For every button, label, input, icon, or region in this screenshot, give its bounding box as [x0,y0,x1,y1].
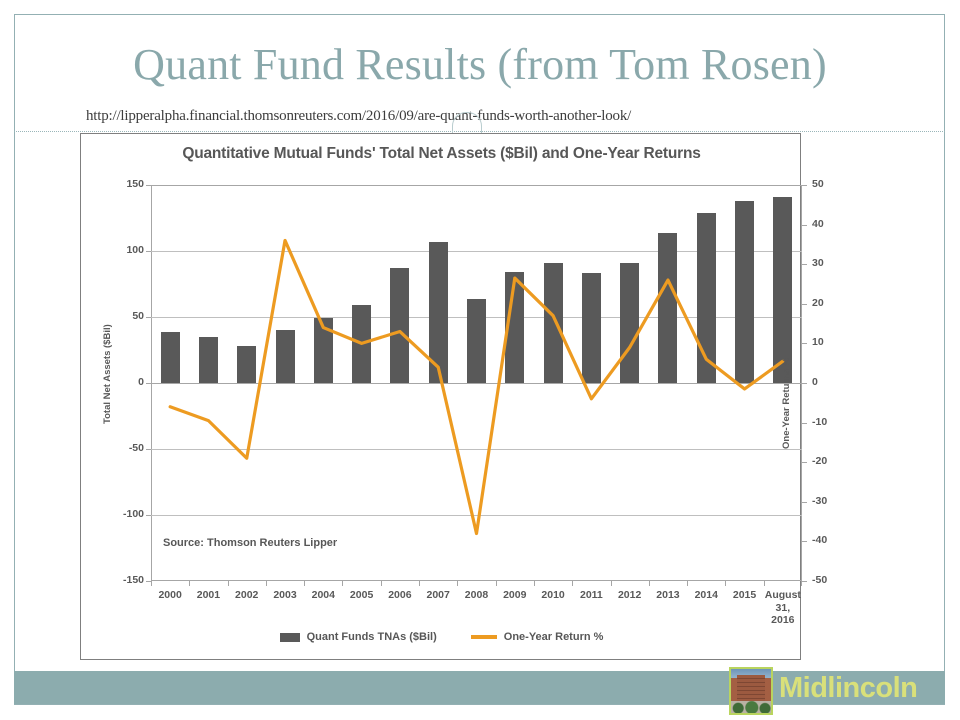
right-axis-tick-mark [802,502,807,503]
x-axis-label-group: 2000 [151,589,189,602]
chart-source-note: Source: Thomson Reuters Lipper [163,537,337,549]
x-axis-tick-mark [151,581,152,586]
building-photo-logo [729,667,773,715]
x-axis-tick-label: 2015 [733,589,756,601]
x-axis-tick-label: 2012 [618,589,641,601]
legend-item-bars: Quant Funds TNAs ($Bil) [280,631,437,643]
x-axis-tick-mark [801,581,802,586]
right-axis-tick-label: 30 [812,257,824,269]
x-axis-tick-mark [342,581,343,586]
x-axis-tick-label: 2014 [695,589,718,601]
x-axis-tick-label: 2004 [312,589,335,601]
x-axis-label-group: 2014 [687,589,725,602]
right-axis-tick-label: 40 [812,218,824,230]
x-axis-tick-label: 2001 [197,589,220,601]
x-axis-tick-mark [725,581,726,586]
x-axis-label-group: 2006 [381,589,419,602]
x-axis-tick-label: 2006 [388,589,411,601]
right-axis-tick-label: 0 [812,376,818,388]
right-axis-tick-mark [802,185,807,186]
left-axis-tick-label: 0 [138,376,144,388]
right-axis-tick-label: -20 [812,455,827,467]
left-axis-tick-label: -100 [123,508,144,520]
x-axis-label-group: 2012 [611,589,649,602]
chart-legend: Quant Funds TNAs ($Bil) One-Year Return … [81,631,802,643]
chart-container: Quantitative Mutual Funds' Total Net Ass… [80,133,801,660]
x-axis-label-group: 2003 [266,589,304,602]
x-axis-tick-mark [611,581,612,586]
x-axis-label-group: 2008 [457,589,495,602]
x-axis-tick-mark [419,581,420,586]
x-axis-label-group: 2011 [572,589,610,602]
right-axis-tick-label: 10 [812,336,824,348]
x-axis-label-group: 2013 [649,589,687,602]
legend-item-line: One-Year Return % [471,631,604,643]
return-line-path [170,240,783,533]
legend-label-line: One-Year Return % [504,631,604,643]
right-axis-tick-mark [802,462,807,463]
x-axis-tick-label: 2010 [541,589,564,601]
brand-wordmark: Midlincoln [779,672,917,705]
x-axis-tick-mark [534,581,535,586]
x-axis-tick-label: 2000 [158,589,181,601]
right-axis-tick-mark [802,304,807,305]
x-axis-tick-label: 2002 [235,589,258,601]
right-axis-tick-mark [802,581,807,582]
x-axis-tick-label: 2013 [656,589,679,601]
x-axis-tick-label: 2005 [350,589,373,601]
right-axis-tick-mark [802,225,807,226]
chart-title: Quantitative Mutual Funds' Total Net Ass… [81,145,802,163]
right-axis-tick-label: -40 [812,534,827,546]
trees-shape [731,701,771,713]
return-line-series [151,185,802,581]
x-axis-tick-mark [304,581,305,586]
right-axis-tick-mark [802,343,807,344]
x-axis-tick-mark [189,581,190,586]
left-axis-tick-label: 150 [126,178,144,190]
right-axis-tick-label: 20 [812,297,824,309]
x-axis-tick-mark [496,581,497,586]
left-axis-tick-label: -50 [129,442,144,454]
x-axis-tick-label: 2011 [580,589,603,601]
x-axis-tick-mark [228,581,229,586]
x-axis-tick-mark [381,581,382,586]
x-axis-tick-mark [649,581,650,586]
right-axis-tick-mark [802,541,807,542]
x-axis-tick-label: August [765,589,801,601]
page-title: Quant Fund Results (from Tom Rosen) [0,40,960,90]
legend-bar-swatch [280,633,300,642]
x-axis-label-group: 2001 [189,589,227,602]
x-axis-label-group: August31,2016 [764,589,802,627]
right-axis-tick-mark [802,383,807,384]
x-axis-label-group: 2010 [534,589,572,602]
x-axis-tick-label: 2009 [503,589,526,601]
x-axis-tick-label: 2016 [771,614,794,626]
x-axis-tick-mark [457,581,458,586]
right-axis-tick-label: -50 [812,574,827,586]
left-axis-tick-label: -150 [123,574,144,586]
x-axis-tick-mark [687,581,688,586]
x-axis-label-group: 2007 [419,589,457,602]
source-url-text: http://lipperalpha.financial.thomsonreut… [86,108,631,125]
left-axis-tick-label: 50 [132,310,144,322]
x-axis-label-group: 2009 [496,589,534,602]
left-axis-title: Total Net Assets ($Bil) [102,324,113,424]
right-axis-tick-mark [802,264,807,265]
x-axis-tick-mark [764,581,765,586]
right-axis-title: One-Year Returns % [781,358,792,449]
legend-line-swatch [471,635,497,639]
x-axis-tick-label: 2007 [427,589,450,601]
x-axis-label-group: 2004 [304,589,342,602]
slide: Quant Fund Results (from Tom Rosen) http… [0,0,960,720]
x-axis-tick-label: 2008 [465,589,488,601]
x-axis-tick-label: 2003 [273,589,296,601]
right-axis-tick-label: 50 [812,178,824,190]
right-axis-tick-label: -30 [812,495,827,507]
left-axis-tick-label: 100 [126,244,144,256]
right-axis-tick-label: -10 [812,416,827,428]
x-axis-tick-label: 31, [776,602,791,614]
x-axis-label-group: 2005 [342,589,380,602]
x-axis-label-group: 2015 [725,589,763,602]
x-axis-tick-mark [266,581,267,586]
x-axis-label-group: 2002 [228,589,266,602]
right-axis-tick-mark [802,423,807,424]
legend-label-bars: Quant Funds TNAs ($Bil) [307,631,437,643]
x-axis-tick-mark [572,581,573,586]
chart-plot-area: 150100500-50-100-15050403020100-10-20-30… [151,185,802,581]
